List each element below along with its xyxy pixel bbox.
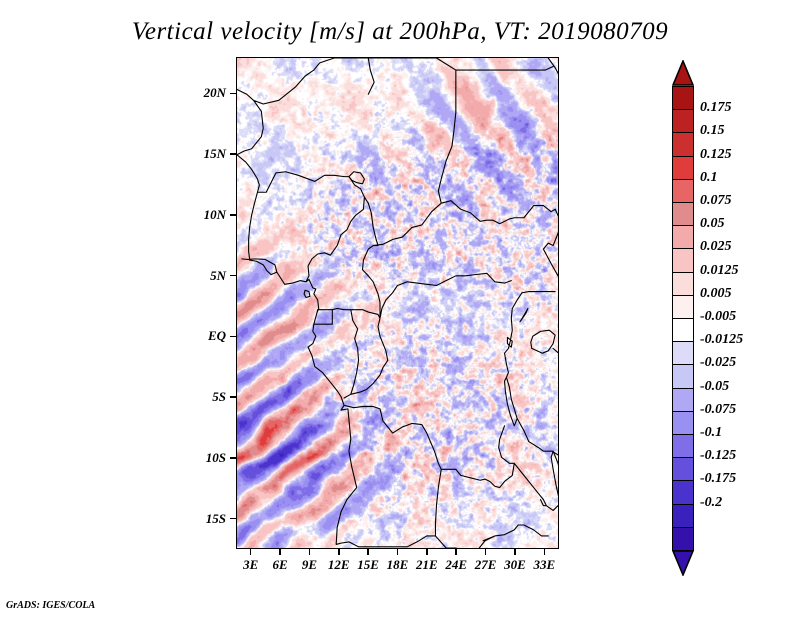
x-axis-tick: [309, 549, 311, 555]
colorbar-tick-label: -0.025: [700, 356, 736, 370]
colorbar-tick-label: 0.025: [700, 240, 732, 254]
y-axis-label: 5N: [184, 268, 226, 284]
colorbar-band: [672, 225, 694, 250]
colorbar-band: [672, 202, 694, 227]
y-axis-label: EQ: [184, 328, 226, 344]
colorbar-band: [672, 364, 694, 389]
colorbar-tick-label: -0.005: [700, 310, 736, 324]
colorbar-band: [672, 480, 694, 505]
x-axis-tick: [544, 549, 546, 555]
x-axis-tick: [397, 549, 399, 555]
x-axis-tick: [514, 549, 516, 555]
colorbar-band: [672, 388, 694, 413]
colorbar-band: [672, 341, 694, 366]
y-axis-label: 10N: [184, 207, 226, 223]
colorbar-tick-label: 0.1: [700, 171, 718, 185]
colorbar-top-arrow-icon: [672, 60, 694, 86]
colorbar-band: [672, 295, 694, 320]
y-axis-tick: [230, 93, 236, 95]
colorbar-tick-label: -0.0125: [700, 333, 743, 347]
colorbar-tick-label: 0.0125: [700, 264, 739, 278]
colorbar-tick-label: 0.15: [700, 124, 725, 138]
colorbar-tick-label: 0.175: [700, 101, 732, 115]
y-axis-tick: [230, 275, 236, 277]
y-axis-tick: [230, 518, 236, 520]
x-axis-tick: [279, 549, 281, 555]
colorbar-band: [672, 86, 694, 111]
x-axis-tick: [338, 549, 340, 555]
y-axis-label: 15S: [184, 511, 226, 527]
colorbar-band: [672, 109, 694, 134]
colorbar-tick-label: -0.125: [700, 449, 736, 463]
colorbar-tick-label: -0.175: [700, 472, 736, 486]
y-axis-tick: [230, 153, 236, 155]
grads-plot-page: Vertical velocity [m/s] at 200hPa, VT: 2…: [0, 0, 800, 618]
x-axis-tick: [426, 549, 428, 555]
colorbar-band: [672, 434, 694, 459]
colorbar-band: [672, 179, 694, 204]
y-axis-tick: [230, 336, 236, 338]
colorbar-tick-label: 0.05: [700, 217, 725, 231]
y-axis-label: 15N: [184, 146, 226, 162]
colorbar-tick-label: -0.1: [700, 426, 722, 440]
colorbar-band: [672, 272, 694, 297]
colorbar-band: [672, 527, 694, 552]
y-axis-label: 10S: [184, 450, 226, 466]
colorbar-tick-label: 0.125: [700, 148, 732, 162]
x-axis-tick: [250, 549, 252, 555]
x-axis-tick: [367, 549, 369, 555]
colorbar-tick-label: 0.005: [700, 287, 732, 301]
colorbar-band: [672, 457, 694, 482]
x-axis-tick: [485, 549, 487, 555]
colorbar-band: [672, 411, 694, 436]
y-axis-tick: [230, 396, 236, 398]
y-axis-label: 5S: [184, 389, 226, 405]
colorbar: 0.1750.150.1250.10.0750.050.0250.01250.0…: [668, 60, 798, 560]
colorbar-tick-label: -0.05: [700, 380, 729, 394]
y-axis-tick: [230, 457, 236, 459]
colorbar-tick-label: -0.2: [700, 496, 722, 510]
y-axis-label: 20N: [184, 85, 226, 101]
colorbar-band: [672, 132, 694, 157]
map-panel: [236, 57, 559, 549]
coastline-and-borders-overlay: [237, 58, 558, 548]
x-axis-tick: [455, 549, 457, 555]
colorbar-tick-label: 0.075: [700, 194, 732, 208]
x-axis-label: 33E: [522, 557, 566, 573]
colorbar-band: [672, 504, 694, 529]
grads-attribution: GrADS: IGES/COLA: [6, 600, 95, 611]
colorbar-tick-label: -0.075: [700, 403, 736, 417]
colorbar-band: [672, 318, 694, 343]
y-axis-tick: [230, 214, 236, 216]
colorbar-band: [672, 156, 694, 181]
page-title: Vertical velocity [m/s] at 200hPa, VT: 2…: [0, 18, 800, 46]
colorbar-band: [672, 248, 694, 273]
colorbar-bottom-arrow-icon: [672, 550, 694, 576]
